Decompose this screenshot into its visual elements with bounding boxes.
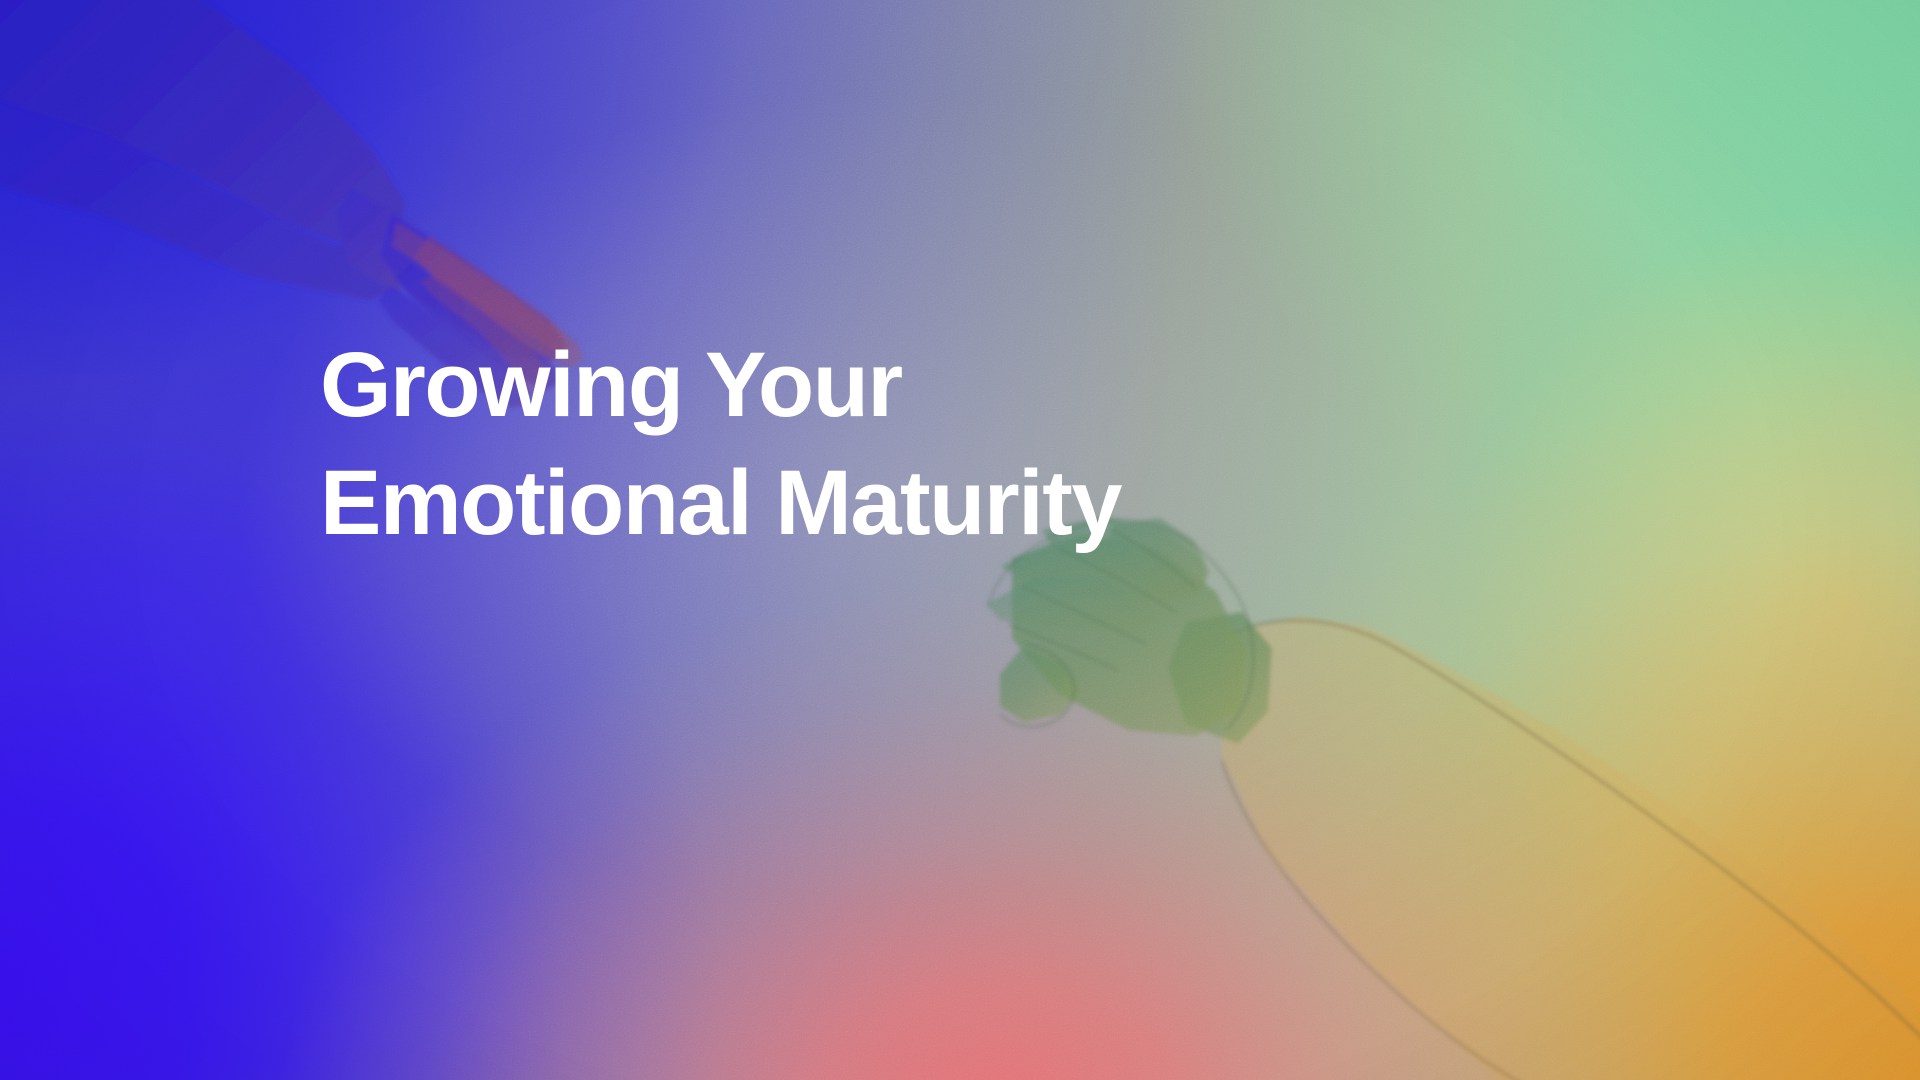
headline-line-2: Emotional Maturity: [320, 444, 1440, 562]
right-sleeve-outline-top: [1228, 620, 1920, 1052]
right-thumb-outline: [1000, 644, 1074, 727]
hero-banner: Growing Your Emotional Maturity: [0, 0, 1920, 1080]
open-palm-hand-lower-right: [986, 516, 1920, 1080]
hero-headline: Growing Your Emotional Maturity: [320, 326, 1440, 562]
right-thumb: [1000, 648, 1080, 722]
left-cuff-shape: [336, 188, 428, 292]
right-wrist-shape: [1168, 612, 1272, 744]
left-sleeve-lower: [0, 92, 410, 300]
right-little-finger: [986, 576, 1158, 632]
right-sleeve-outline-bottom: [1222, 760, 1560, 1080]
right-sleeve-shape: [1222, 616, 1920, 1080]
right-palm-shape: [1012, 534, 1246, 736]
headline-line-1: Growing Your: [320, 326, 1440, 444]
left-sleeve-shape: [0, 0, 404, 246]
